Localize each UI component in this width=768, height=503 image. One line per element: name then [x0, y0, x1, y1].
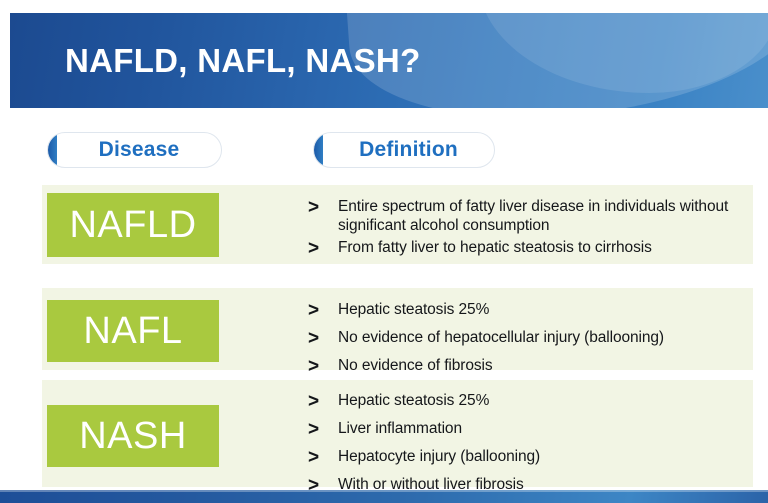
column-header-disease: Disease	[47, 132, 222, 168]
definition-text: Hepatic steatosis 25%	[338, 300, 745, 319]
definition-list: > Hepatic steatosis 25% > Liver inflamma…	[308, 380, 745, 503]
table-row: NAFLD > Entire spectrum of fatty liver d…	[42, 185, 753, 264]
definition-text: Entire spectrum of fatty liver disease i…	[338, 197, 745, 235]
disease-badge: NASH	[47, 405, 219, 467]
definition-list: > Hepatic steatosis 25% > No evidence of…	[308, 288, 745, 384]
chevron-right-icon: >	[308, 197, 338, 218]
definition-text: From fatty liver to hepatic steatosis to…	[338, 238, 745, 257]
column-header-definition: Definition	[313, 132, 495, 168]
chevron-right-icon: >	[308, 300, 338, 321]
list-item: > No evidence of fibrosis	[308, 356, 745, 377]
list-item: > No evidence of hepatocellular injury (…	[308, 328, 745, 349]
list-item: > Hepatic steatosis 25%	[308, 391, 745, 412]
table-row: NASH > Hepatic steatosis 25% > Liver inf…	[42, 380, 753, 487]
definition-text: Liver inflammation	[338, 419, 745, 438]
header-banner: NAFLD, NAFL, NASH?	[10, 13, 768, 108]
chevron-right-icon: >	[308, 356, 338, 377]
list-item: > Liver inflammation	[308, 419, 745, 440]
footer-bar	[0, 490, 768, 503]
list-item: > Hepatocyte injury (ballooning)	[308, 447, 745, 468]
list-item: > From fatty liver to hepatic steatosis …	[308, 238, 745, 259]
table-row: NAFL > Hepatic steatosis 25% > No eviden…	[42, 288, 753, 370]
chevron-right-icon: >	[308, 328, 338, 349]
header-decorative-sweep-secondary	[478, 13, 768, 93]
slide-title: NAFLD, NAFL, NASH?	[65, 42, 421, 80]
column-header-definition-label: Definition	[314, 133, 494, 167]
definition-list: > Entire spectrum of fatty liver disease…	[308, 185, 745, 262]
definition-text: Hepatocyte injury (ballooning)	[338, 447, 745, 466]
chevron-right-icon: >	[308, 238, 338, 259]
list-item: > Hepatic steatosis 25%	[308, 300, 745, 321]
disease-badge: NAFLD	[47, 193, 219, 257]
disease-badge: NAFL	[47, 300, 219, 362]
list-item: > Entire spectrum of fatty liver disease…	[308, 197, 745, 235]
chevron-right-icon: >	[308, 447, 338, 468]
chevron-right-icon: >	[308, 419, 338, 440]
definition-text: Hepatic steatosis 25%	[338, 391, 745, 410]
footer-bar-highlight	[0, 490, 768, 492]
definition-text: No evidence of hepatocellular injury (ba…	[338, 328, 745, 347]
column-header-disease-label: Disease	[48, 133, 221, 167]
chevron-right-icon: >	[308, 391, 338, 412]
definition-text: No evidence of fibrosis	[338, 356, 745, 375]
